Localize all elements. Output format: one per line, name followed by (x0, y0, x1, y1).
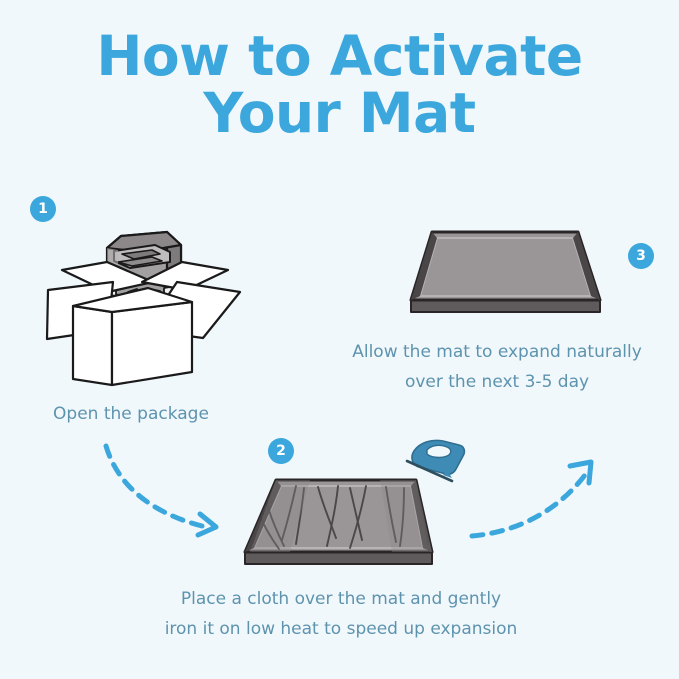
mat3-bevel-left (411, 232, 437, 300)
mat3-edge-front (411, 300, 600, 312)
title-line-2: Your Mat (0, 85, 679, 142)
box-flap-back-left (62, 262, 153, 292)
step-1-caption-line-1: Open the package (0, 400, 262, 430)
iron-icon (407, 440, 464, 481)
box-flap-front (73, 288, 192, 312)
step-1-caption: Open the package (0, 400, 262, 430)
arrow-step1-to-step2 (106, 446, 216, 535)
open-box-with-mat-illustration (47, 232, 240, 385)
step-2-caption-line-2: iron it on low heat to speed up expansio… (110, 615, 572, 645)
step-2-number-badge: 2 (268, 438, 294, 464)
step-3-caption-line-1: Allow the mat to expand naturally (315, 338, 679, 368)
cloth-shading (250, 480, 432, 552)
mat-with-cloth-illustration (245, 480, 432, 564)
box-face-left (73, 306, 112, 385)
page-title: How to Activate Your Mat (0, 28, 679, 141)
mat2-bevel-right (411, 480, 432, 552)
step-3-caption-line-2: over the next 3-5 day (315, 368, 679, 398)
infographic-canvas: How to Activate Your Mat (0, 0, 679, 679)
box-flap-back-right (142, 262, 228, 290)
rolled-mat-in-box (104, 232, 181, 303)
mat2-top-surface (245, 480, 432, 552)
step-2-caption-line-1: Place a cloth over the mat and gently (110, 585, 572, 615)
box-flap-left (47, 282, 113, 339)
step-2-caption: Place a cloth over the mat and gently ir… (110, 585, 572, 645)
flat-expanded-mat-illustration (411, 232, 600, 312)
arrow-step2-to-step3 (472, 462, 591, 536)
step-1-number-badge: 1 (30, 196, 56, 222)
cloth-wrinkles (258, 486, 428, 549)
mat3-bevel (420, 238, 591, 296)
step-3-caption: Allow the mat to expand naturally over t… (315, 338, 679, 398)
mat3-bevel-right (573, 232, 600, 300)
box-face-front (112, 302, 192, 385)
mat2-bevel-left (245, 480, 281, 552)
step-3-number-badge: 3 (628, 243, 654, 269)
mat2-bevel (254, 486, 423, 548)
mat3-top-surface (411, 232, 600, 300)
title-line-1: How to Activate (0, 28, 679, 85)
box-flap-right (145, 282, 240, 338)
mat2-edge-front (245, 552, 432, 564)
